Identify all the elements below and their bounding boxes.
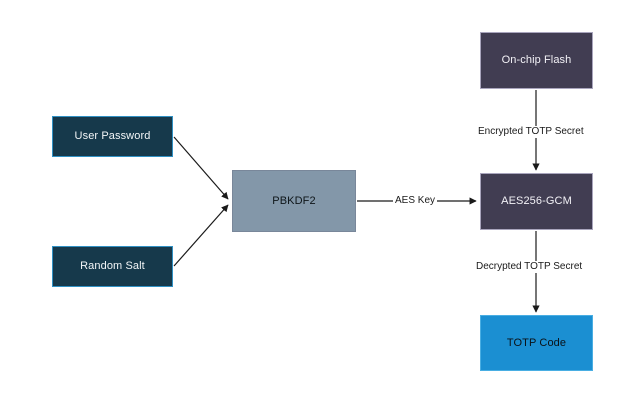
node-label-totp-code: TOTP Code [507, 337, 566, 350]
node-label-aes256-gcm: AES256-GCM [501, 195, 572, 208]
edge-label-decrypted-totp-secret: Decrypted TOTP Secret [474, 261, 584, 273]
node-aes256-gcm[interactable]: AES256-GCM [480, 173, 593, 230]
edge-salt-to-pbkdf2 [174, 205, 228, 266]
edge-label-aes-key: AES Key [393, 195, 437, 207]
node-label-random-salt: Random Salt [80, 260, 145, 273]
edge-label-encrypted-totp-secret: Encrypted TOTP Secret [476, 126, 586, 138]
node-user-password[interactable]: User Password [52, 116, 173, 157]
node-label-on-chip-flash: On-chip Flash [502, 54, 572, 67]
node-pbkdf2[interactable]: PBKDF2 [232, 170, 356, 232]
node-totp-code[interactable]: TOTP Code [480, 315, 593, 371]
edge-password-to-pbkdf2 [174, 137, 228, 199]
node-on-chip-flash[interactable]: On-chip Flash [480, 32, 593, 89]
node-random-salt[interactable]: Random Salt [52, 246, 173, 287]
node-label-user-password: User Password [75, 130, 151, 143]
diagram-canvas: User Password Random Salt PBKDF2 On-chip… [0, 0, 631, 401]
node-label-pbkdf2: PBKDF2 [272, 195, 315, 208]
